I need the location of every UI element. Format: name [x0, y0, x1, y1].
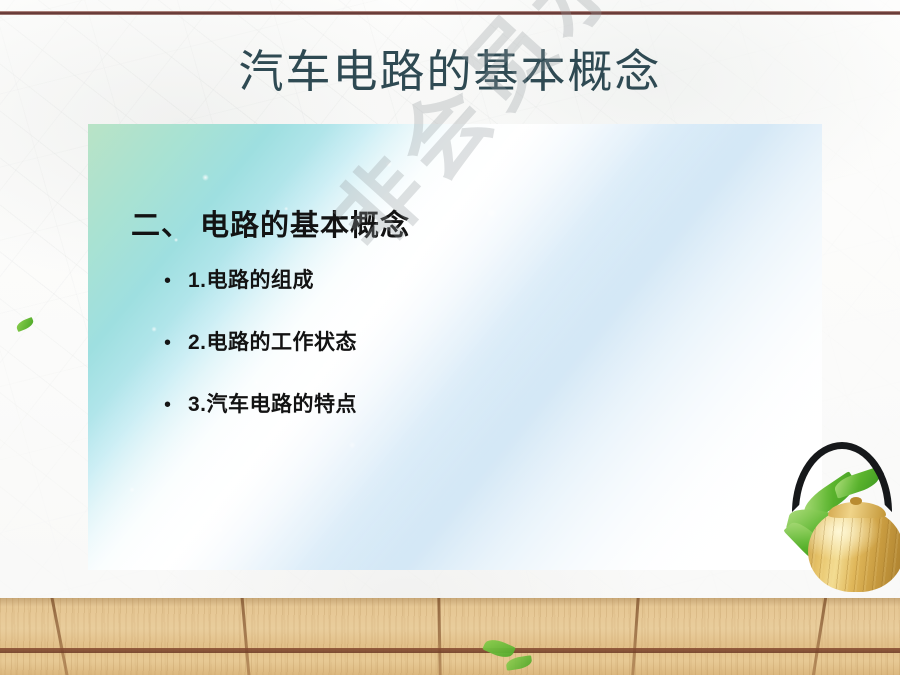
content-panel: 二、 电路的基本概念 • 1.电路的组成 • 2.电路的工作状态 • 3.汽车电…	[88, 124, 822, 570]
panel-body: 二、 电路的基本概念 • 1.电路的组成 • 2.电路的工作状态 • 3.汽车电…	[88, 124, 822, 570]
bullet-marker-icon: •	[164, 395, 188, 415]
teapot-knob	[850, 497, 862, 505]
list-item-label: 2.电路的工作状态	[188, 326, 357, 356]
list-item: • 1.电路的组成	[164, 264, 357, 326]
list-item-label: 1.电路的组成	[188, 264, 314, 294]
bullet-list: • 1.电路的组成 • 2.电路的工作状态 • 3.汽车电路的特点	[164, 264, 357, 450]
presentation-slide: 汽车电路的基本概念 二、 电路的基本概念 • 1.电路的组成 • 2.电路的工作…	[0, 0, 900, 675]
wooden-table-surface	[0, 598, 900, 675]
wood-grain-texture	[0, 598, 900, 675]
list-item: • 2.电路的工作状态	[164, 326, 357, 388]
section-heading: 二、 电路的基本概念	[131, 202, 410, 244]
table-edge-band	[0, 648, 900, 653]
teapot-ribs	[808, 508, 900, 592]
teapot-illustration	[780, 468, 900, 598]
bullet-marker-icon: •	[164, 333, 188, 353]
list-item-label: 3.汽车电路的特点	[188, 388, 357, 418]
list-item: • 3.汽车电路的特点	[164, 388, 357, 450]
teapot-body	[808, 508, 900, 592]
top-divider-rule	[0, 11, 900, 15]
bullet-marker-icon: •	[164, 271, 188, 291]
page-title: 汽车电路的基本概念	[0, 48, 900, 98]
